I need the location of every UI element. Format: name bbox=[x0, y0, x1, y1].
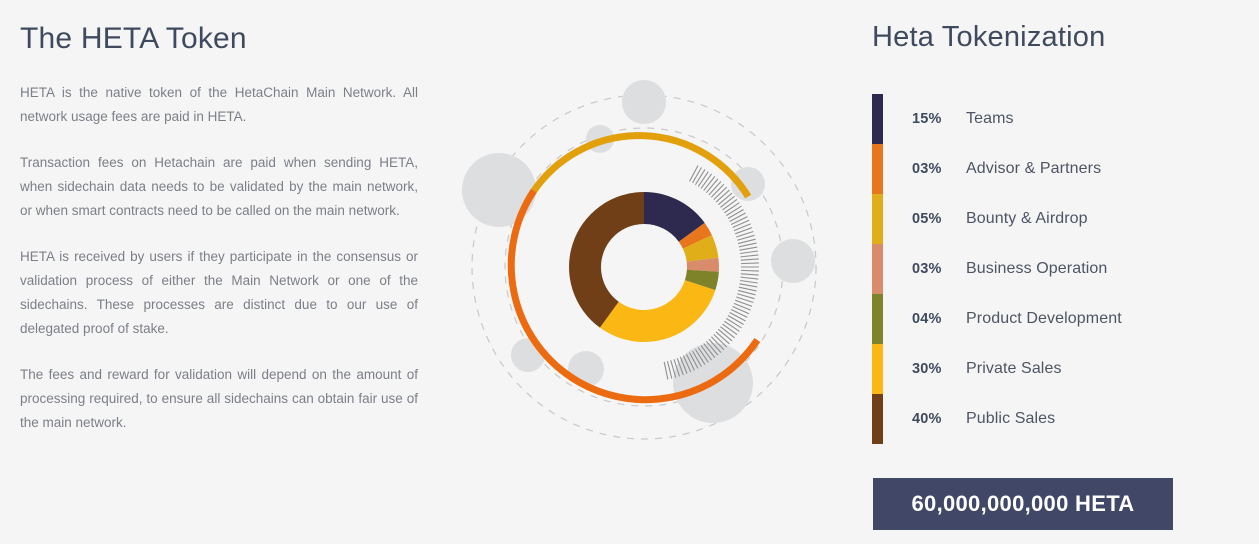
tick-mark bbox=[741, 270, 759, 271]
tick-mark bbox=[740, 251, 758, 254]
donut-segment[interactable] bbox=[600, 280, 715, 342]
legend-percent: 05% bbox=[883, 211, 951, 227]
legend-percent: 03% bbox=[883, 261, 951, 277]
legend-row[interactable]: 40%Public Sales bbox=[872, 394, 1242, 444]
total-supply-banner: 60,000,000,000 HETA bbox=[873, 478, 1173, 530]
tick-mark bbox=[698, 172, 708, 187]
bubble-5 bbox=[771, 239, 815, 283]
tick-mark bbox=[693, 167, 702, 183]
tick-mark bbox=[722, 199, 737, 210]
legend-label: Bounty & Airdrop bbox=[951, 210, 1088, 228]
legend-label: Private Sales bbox=[951, 360, 1062, 378]
legend-label: Business Operation bbox=[951, 260, 1107, 278]
tick-mark bbox=[740, 255, 758, 257]
tick-mark bbox=[726, 206, 741, 216]
tick-mark bbox=[701, 174, 712, 189]
description-paragraph-2: Transaction fees on Hetachain are paid w… bbox=[20, 151, 418, 223]
tick-mark bbox=[724, 321, 739, 331]
dashed-ring-outer bbox=[472, 95, 816, 439]
description-paragraph-3: HETA is received by users if they partic… bbox=[20, 245, 418, 341]
tick-mark bbox=[728, 316, 744, 325]
donut-segments bbox=[569, 192, 719, 342]
tick-mark bbox=[730, 313, 746, 321]
legend-percent: 40% bbox=[883, 411, 951, 427]
bubble-3 bbox=[462, 153, 536, 227]
legend-color-swatch bbox=[872, 294, 883, 344]
legend-percent: 30% bbox=[883, 361, 951, 377]
tick-mark bbox=[722, 324, 737, 335]
donut-segment[interactable] bbox=[569, 192, 644, 328]
donut-chart-svg bbox=[455, 78, 835, 458]
tokenization-title: Heta Tokenization bbox=[872, 22, 1242, 54]
tick-mark bbox=[730, 213, 746, 221]
tick-mark bbox=[690, 165, 698, 181]
description-paragraph-4: The fees and reward for validation will … bbox=[20, 363, 418, 435]
tokenization-donut-chart bbox=[455, 78, 835, 458]
tick-mark bbox=[726, 318, 741, 328]
tick-mark bbox=[728, 210, 744, 219]
token-page: The HETA Token HETA is the native token … bbox=[0, 0, 1259, 544]
legend-row[interactable]: 30%Private Sales bbox=[872, 344, 1242, 394]
tick-mark bbox=[741, 259, 759, 260]
tick-mark bbox=[739, 287, 757, 291]
tick-mark bbox=[733, 306, 749, 313]
bubble-1 bbox=[622, 80, 666, 124]
tokenization-panel: Heta Tokenization 15%Teams03%Advisor & P… bbox=[872, 22, 1242, 444]
legend-color-swatch bbox=[872, 344, 883, 394]
legend-label: Teams bbox=[951, 110, 1014, 128]
tick-mark bbox=[739, 243, 757, 247]
tick-mark bbox=[740, 284, 758, 287]
tick-mark bbox=[733, 220, 749, 227]
tick-mark bbox=[731, 310, 747, 318]
legend-color-swatch bbox=[872, 244, 883, 294]
tick-mark bbox=[731, 217, 747, 225]
legend-row[interactable]: 15%Teams bbox=[872, 94, 1242, 144]
legend-row[interactable]: 03%Business Operation bbox=[872, 244, 1242, 294]
legend-row[interactable]: 05%Bounty & Airdrop bbox=[872, 194, 1242, 244]
legend-percent: 03% bbox=[883, 161, 951, 177]
legend-row[interactable]: 03%Advisor & Partners bbox=[872, 144, 1242, 194]
legend-percent: 15% bbox=[883, 111, 951, 127]
tick-mark bbox=[741, 274, 759, 275]
tick-mark bbox=[695, 169, 705, 184]
tick-mark bbox=[740, 247, 758, 250]
legend-color-swatch bbox=[872, 194, 883, 244]
legend-label: Product Development bbox=[951, 310, 1122, 328]
legend-color-swatch bbox=[872, 394, 883, 444]
description-paragraph-1: HETA is the native token of the HetaChai… bbox=[20, 81, 418, 129]
page-title: The HETA Token bbox=[20, 22, 418, 55]
tick-mark bbox=[724, 203, 739, 213]
tick-mark bbox=[740, 280, 758, 283]
legend-percent: 04% bbox=[883, 311, 951, 327]
legend-label: Public Sales bbox=[951, 410, 1055, 428]
tick-mark bbox=[664, 362, 668, 380]
legend-color-swatch bbox=[872, 144, 883, 194]
total-supply-value: 60,000,000,000 HETA bbox=[912, 491, 1135, 517]
tick-mark bbox=[740, 277, 758, 279]
legend-color-swatch bbox=[872, 94, 883, 144]
tokenization-legend: 15%Teams03%Advisor & Partners05%Bounty &… bbox=[872, 94, 1242, 444]
tick-mark bbox=[741, 263, 759, 264]
legend-label: Advisor & Partners bbox=[951, 160, 1101, 178]
legend-row[interactable]: 04%Product Development bbox=[872, 294, 1242, 344]
token-description-panel: The HETA Token HETA is the native token … bbox=[20, 22, 418, 435]
